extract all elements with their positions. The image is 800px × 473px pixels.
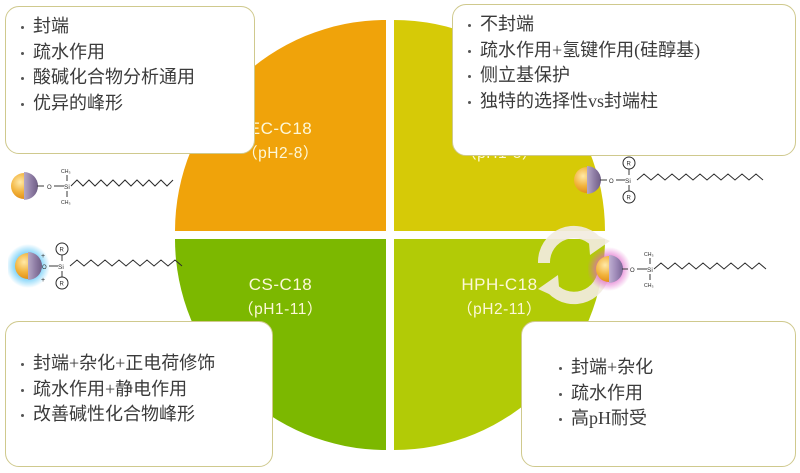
- list-item: 封端+杂化: [556, 355, 785, 381]
- list-item: 优异的峰形: [18, 91, 244, 117]
- list-item: 侧立基保护: [465, 63, 785, 89]
- positive-charge-upper: +: [41, 253, 45, 260]
- svg-text:Si: Si: [64, 184, 70, 191]
- svg-text:O: O: [47, 185, 52, 191]
- list-item: 疏水作用: [556, 381, 785, 407]
- list-item: 酸碱化合物分析通用: [18, 65, 244, 91]
- svg-text:Si: Si: [647, 267, 653, 274]
- list-item: 疏水作用+氢键作用(硅醇基): [465, 38, 785, 64]
- callout-list-hph-c18: 封端+杂化 疏水作用 高pH耐受: [556, 355, 785, 432]
- svg-text:CH₃: CH₃: [61, 169, 71, 175]
- svg-text:R: R: [60, 248, 65, 254]
- svg-text:Si: Si: [58, 264, 64, 271]
- svg-text:CH₃: CH₃: [61, 200, 71, 206]
- callout-sb-c18[interactable]: 不封端 疏水作用+氢键作用(硅醇基) 侧立基保护 独特的选择性vs封端柱: [452, 4, 796, 156]
- c18-chain: [637, 174, 763, 180]
- svg-text:O: O: [630, 268, 635, 274]
- svg-text:O: O: [42, 265, 47, 271]
- svg-text:R: R: [627, 162, 632, 168]
- c18-chain: [70, 260, 182, 266]
- svg-text:Si: Si: [625, 178, 631, 185]
- molecule-diagram-sb-c18: O Si R R: [571, 152, 786, 208]
- list-item: 封端+杂化+正电荷修饰: [18, 351, 262, 377]
- list-item: 改善碱性化合物峰形: [18, 402, 262, 428]
- callout-hph-c18[interactable]: 封端+杂化 疏水作用 高pH耐受: [521, 321, 796, 467]
- callout-cs-c18[interactable]: 封端+杂化+正电荷修饰 疏水作用+静电作用 改善碱性化合物峰形: [5, 321, 273, 467]
- list-item: 疏水作用+静电作用: [18, 377, 262, 403]
- list-item: 高pH耐受: [556, 406, 785, 432]
- svg-text:CH₃: CH₃: [644, 283, 654, 289]
- bonded-shell: [587, 166, 601, 194]
- svg-text:O: O: [609, 179, 614, 185]
- positive-charge-lower: +: [41, 277, 45, 284]
- callout-ec-c18[interactable]: 封端 疏水作用 酸碱化合物分析通用 优异的峰形: [5, 6, 255, 154]
- list-item: 不封端: [465, 12, 785, 38]
- callout-list-cs-c18: 封端+杂化+正电荷修饰 疏水作用+静电作用 改善碱性化合物峰形: [18, 351, 262, 428]
- svg-text:CH₃: CH₃: [644, 252, 654, 258]
- svg-text:R: R: [627, 196, 632, 202]
- bonded-shell: [24, 172, 38, 200]
- c18-chain: [654, 263, 766, 269]
- list-item: 封端: [18, 14, 244, 40]
- list-item: 独特的选择性vs封端柱: [465, 89, 785, 115]
- callout-list-ec-c18: 封端 疏水作用 酸碱化合物分析通用 优异的峰形: [18, 14, 244, 117]
- list-item: 疏水作用: [18, 40, 244, 66]
- molecule-diagram-hph-c18: O Si CH₃ CH₃: [588, 240, 788, 298]
- diagram-canvas: EC-C18 （pH2-8） SB-C18 （pH1-8） CS-C18 （pH…: [0, 0, 800, 473]
- callout-list-sb-c18: 不封端 疏水作用+氢键作用(硅醇基) 侧立基保护 独特的选择性vs封端柱: [465, 12, 785, 115]
- c18-chain: [71, 180, 173, 186]
- molecule-diagram-cs-c18: + + O Si R R: [8, 238, 203, 294]
- svg-text:R: R: [60, 282, 65, 288]
- molecule-diagram-ec-c18: O Si CH₃ CH₃: [8, 160, 193, 212]
